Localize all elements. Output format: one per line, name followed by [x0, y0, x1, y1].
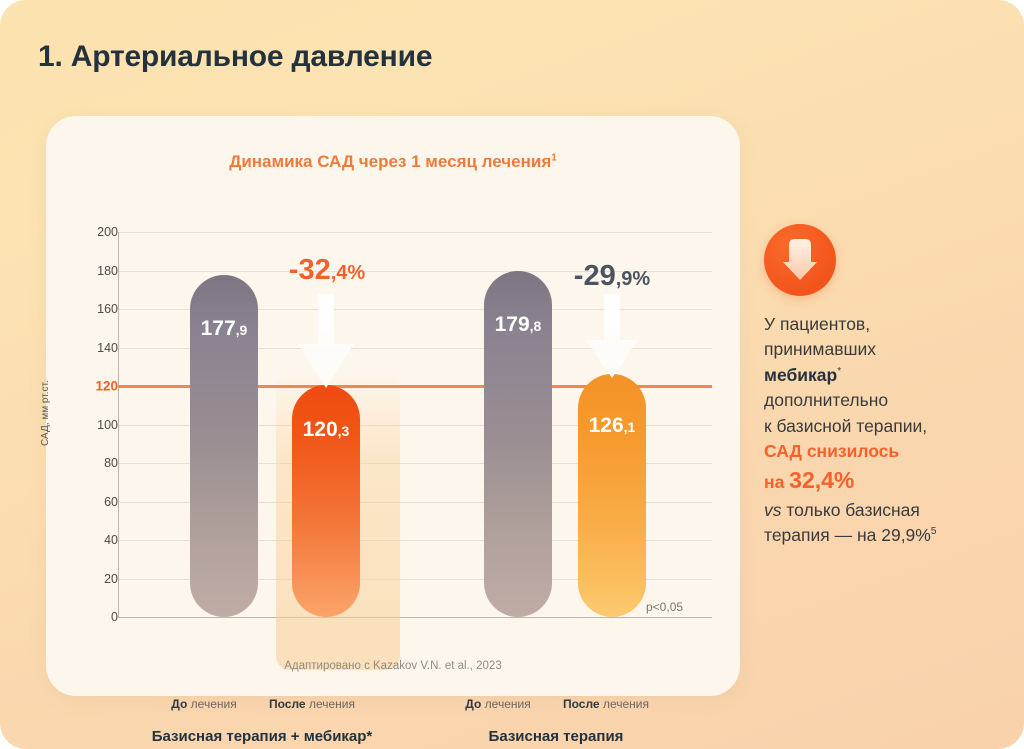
- summary-line-2: принимавших: [764, 339, 876, 359]
- summary-highlight-prefix: на: [764, 472, 789, 492]
- bar-group2-after[interactable]: 126,1: [578, 374, 646, 617]
- bar-value-group1-after: 120,3: [292, 418, 360, 442]
- x-label-group2-before: До лечения: [448, 697, 548, 711]
- summary-line-1: У пациентов,: [764, 314, 870, 334]
- chart-card: Динамика САД через 1 месяц лечения1 САД,…: [46, 116, 740, 696]
- group-label-2: Базисная терапия: [446, 728, 666, 745]
- summary-vs: vs: [764, 500, 782, 520]
- summary-line-6-footnote-marker: 5: [931, 526, 937, 537]
- y-tick-0: 0: [72, 610, 118, 624]
- summary-highlight-1: САД снизилось: [764, 441, 899, 461]
- summary-panel: У пациентов, принимавших мебикар* дополн…: [764, 312, 1004, 548]
- chart-source: Адаптировано с Kazakov V.N. et al., 2023: [46, 660, 740, 672]
- x-axis-line: [118, 617, 712, 618]
- arrow-down-icon-badge: [764, 224, 836, 296]
- x-label-group1-after: После лечения: [256, 697, 368, 711]
- x-label-group1-before: До лечения: [154, 697, 254, 711]
- slide: 1. Артериальное давление Динамика САД че…: [0, 0, 1024, 749]
- y-tick-100: 100: [72, 418, 118, 432]
- arrow-down-icon: [783, 239, 817, 281]
- bar-value-group1-before: 177,9: [190, 317, 258, 341]
- y-tick-180: 180: [72, 264, 118, 278]
- summary-drug-footnote-marker: *: [837, 366, 841, 377]
- summary-line-4: к базисной терапии,: [764, 416, 927, 436]
- p-value-label: p<0,05: [646, 600, 683, 614]
- arrow-down-group2: [586, 294, 638, 380]
- y-tick-40: 40: [72, 533, 118, 547]
- summary-drug-name: мебикар: [764, 365, 837, 385]
- y-tick-200: 200: [72, 225, 118, 239]
- bar-value-group2-before: 179,8: [484, 313, 552, 337]
- delta-label-group2: -29,9%: [552, 260, 672, 293]
- summary-highlight-2: 32,4%: [789, 467, 854, 493]
- arrow-down-group1: [298, 294, 354, 390]
- y-axis-ticks: 200 180 160 140 120 100 80 60 40 20 0: [70, 116, 118, 696]
- summary-line-3: дополнительно: [764, 390, 888, 410]
- y-tick-20: 20: [72, 572, 118, 586]
- group-label-1: Базисная терапия + мебикар*: [132, 728, 392, 745]
- bar-value-group2-after: 126,1: [578, 414, 646, 438]
- y-tick-60: 60: [72, 495, 118, 509]
- gridline-200: [118, 232, 712, 233]
- x-label-group2-after: После лечения: [550, 697, 662, 711]
- summary-line-5: только базисная: [782, 500, 920, 520]
- y-axis-label: САД, мм рт.ст.: [40, 380, 51, 446]
- plot-area: САД, мм рт.ст. 200 180 160 140 120 100 8…: [46, 116, 740, 696]
- delta-label-group1: -32,4%: [266, 254, 388, 287]
- y-tick-140: 140: [72, 341, 118, 355]
- y-axis-line: [118, 232, 119, 617]
- plot-canvas: 177,9 120,3 -32,4%: [118, 232, 712, 687]
- y-tick-120: 120: [72, 379, 118, 394]
- bar-group1-before[interactable]: 177,9: [190, 275, 258, 617]
- bar-group2-before[interactable]: 179,8: [484, 271, 552, 617]
- page-title: 1. Артериальное давление: [38, 40, 432, 74]
- y-tick-80: 80: [72, 456, 118, 470]
- y-tick-160: 160: [72, 302, 118, 316]
- summary-line-6: терапия — на 29,9%: [764, 525, 931, 545]
- bar-group1-after[interactable]: 120,3: [292, 385, 360, 617]
